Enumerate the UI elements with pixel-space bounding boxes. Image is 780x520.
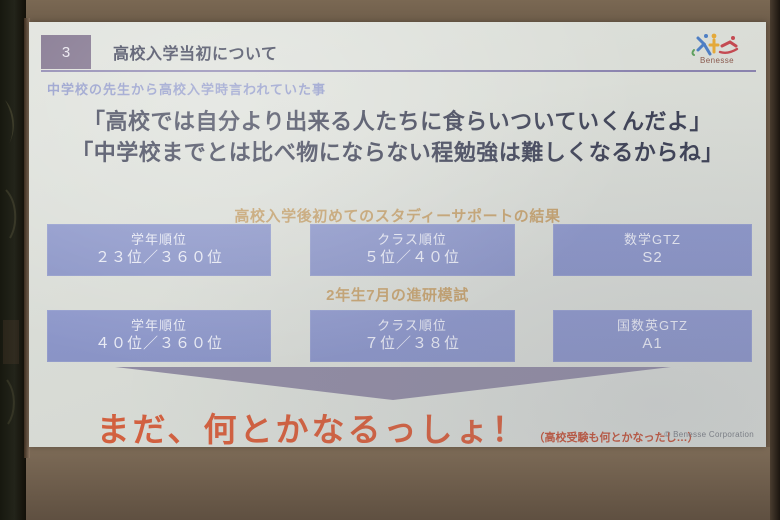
- wall-bottom: [0, 447, 780, 520]
- projector-photo: 3 高校入学当初について B: [0, 0, 780, 520]
- stat-label: 国数英GTZ: [617, 318, 688, 334]
- benesse-logo-mark: [690, 32, 744, 58]
- stat-box-three-subject-gtz: 国数英GTZ A1: [553, 310, 752, 362]
- stat-label: 数学GTZ: [624, 232, 681, 248]
- stat-value: ２３位／３６０位: [95, 249, 223, 268]
- stat-value: S2: [642, 249, 662, 268]
- copyright-notice: © Benesse Corporation: [664, 430, 754, 439]
- stat-value: ４０位／３６０位: [95, 335, 223, 354]
- down-arrow-icon: [115, 367, 671, 400]
- stat-label: クラス順位: [377, 318, 447, 334]
- wall-right-dark-edge: [770, 0, 780, 520]
- stats-row-2: 学年順位 ４０位／３６０位 クラス順位 ７位／３８位 国数英GTZ A1: [47, 310, 752, 362]
- stat-label: 学年順位: [131, 318, 187, 334]
- section-heading-2: 2年生7月の進研模試: [29, 284, 766, 305]
- stat-label: クラス順位: [377, 232, 447, 248]
- benesse-logo-text: Benesse: [686, 56, 748, 65]
- quote-line-1: 「高校では自分より出来る人たちに食らいついていくんだよ」: [29, 106, 766, 137]
- stat-label: 学年順位: [131, 232, 187, 248]
- header-divider: [41, 70, 756, 72]
- punchline-text: まだ、何とかなるっしょ！: [96, 403, 527, 451]
- wall-left-dark-panel: [0, 0, 26, 520]
- punchline-block: まだ、何とかなるっしょ！ （高校受験も何とかなったし…）: [29, 403, 766, 451]
- quote-line-2: 「中学校までとは比べ物にならない程勉強は難しくなるからね」: [29, 137, 766, 168]
- stat-box-math-gtz: 数学GTZ S2: [553, 224, 752, 276]
- stat-value: A1: [642, 335, 662, 354]
- stat-box-class-rank-1: クラス順位 ５位／４０位: [310, 224, 515, 276]
- stat-value: ７位／３８位: [364, 335, 460, 354]
- wall-decor-pattern: [1, 40, 23, 460]
- presentation-slide: 3 高校入学当初について B: [29, 22, 766, 447]
- stats-row-1: 学年順位 ２３位／３６０位 クラス順位 ５位／４０位 数学GTZ S2: [47, 224, 752, 276]
- page-title: 高校入学当初について: [113, 40, 278, 64]
- subheading: 中学校の先生から高校入学時言われていた事: [47, 79, 326, 98]
- stat-box-class-rank-2: クラス順位 ７位／３８位: [310, 310, 515, 362]
- stat-box-grade-rank-1: 学年順位 ２３位／３６０位: [47, 224, 271, 276]
- quote-block: 「高校では自分より出来る人たちに食らいついていくんだよ」 「中学校までとは比べ物…: [29, 106, 766, 168]
- slide-header: 3 高校入学当初について B: [41, 30, 754, 74]
- slide-number-badge: 3: [41, 35, 91, 69]
- section-heading-1: 高校入学後初めてのスタディーサポートの結果: [29, 205, 766, 226]
- slide-number: 3: [62, 44, 70, 61]
- stat-box-grade-rank-2: 学年順位 ４０位／３６０位: [47, 310, 271, 362]
- stat-value: ５位／４０位: [364, 249, 460, 268]
